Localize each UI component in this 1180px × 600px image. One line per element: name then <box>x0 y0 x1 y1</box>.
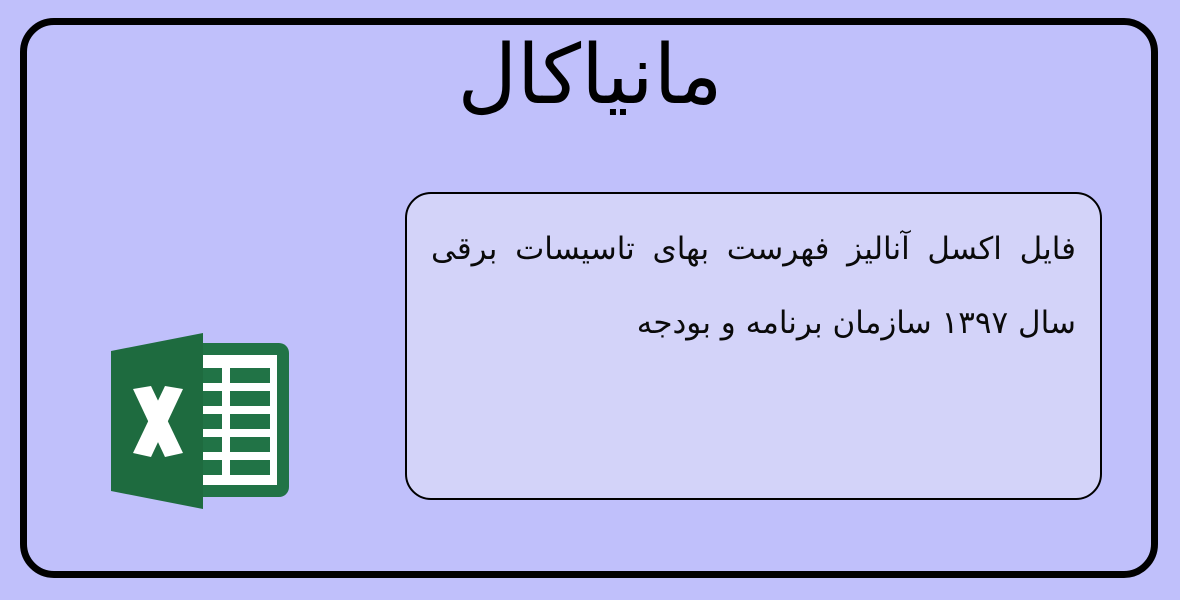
excel-file-icon[interactable] <box>103 331 293 511</box>
page-root: مانیاکال فایل اکسل آنالیز فهرست بهای تاس… <box>0 0 1180 600</box>
excel-icon-graphic <box>103 331 293 511</box>
description-text: فایل اکسل آنالیز فهرست بهای تاسیسات برقی… <box>431 212 1076 360</box>
page-title: مانیاکال <box>0 16 1180 136</box>
description-card: فایل اکسل آنالیز فهرست بهای تاسیسات برقی… <box>405 192 1102 500</box>
